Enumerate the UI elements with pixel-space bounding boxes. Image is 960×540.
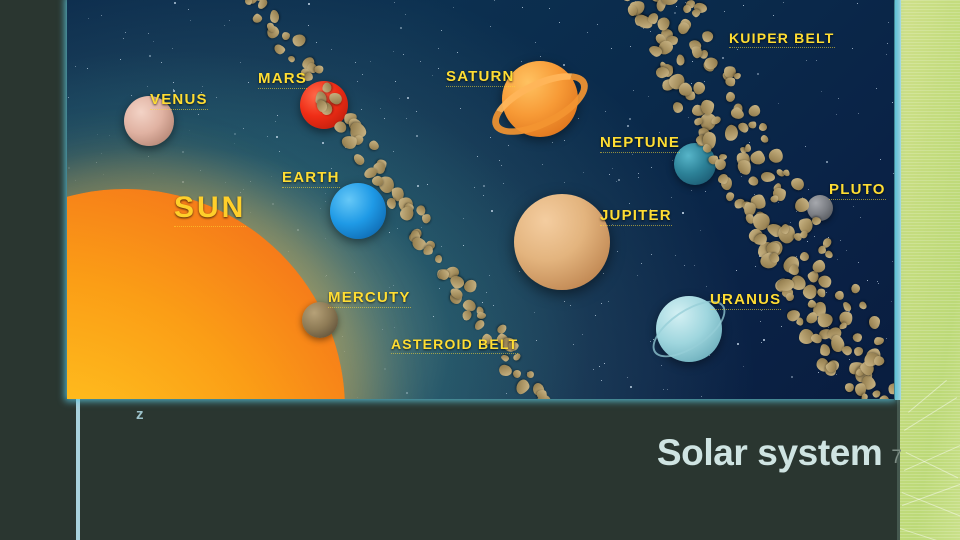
label-kuiper-belt: KUIPER BELT [729,30,835,48]
label-mars: MARS [258,70,307,89]
earth-body [330,183,386,239]
label-earth: EARTH [282,169,340,188]
label-sun: SUN [174,191,246,227]
slide-title-row: Solar system 7 [657,434,902,471]
label-venus: VENUS [150,91,208,110]
slide-number: 7 [891,448,902,471]
label-uranus: URANUS [710,291,781,310]
panel-cyan-edge [895,0,901,400]
left-accent-rule [76,398,80,540]
text-placeholder-z[interactable]: z [136,406,144,423]
decorative-green-panel [900,0,960,540]
label-asteroid-belt: ASTEROID BELT [391,336,518,354]
jupiter-body [514,194,610,290]
label-saturn: SATURN [446,68,515,87]
label-pluto: PLUTO [829,181,886,200]
page-title: Solar system [657,434,883,471]
label-neptune: NEPTUNE [600,134,680,153]
solar-system-picture[interactable]: VENUSMARSSATURNKUIPER BELTNEPTUNEPLUTOEA… [67,0,894,399]
label-mercuty: MERCUTY [328,289,411,308]
label-jupiter: JUPITER [600,207,672,226]
